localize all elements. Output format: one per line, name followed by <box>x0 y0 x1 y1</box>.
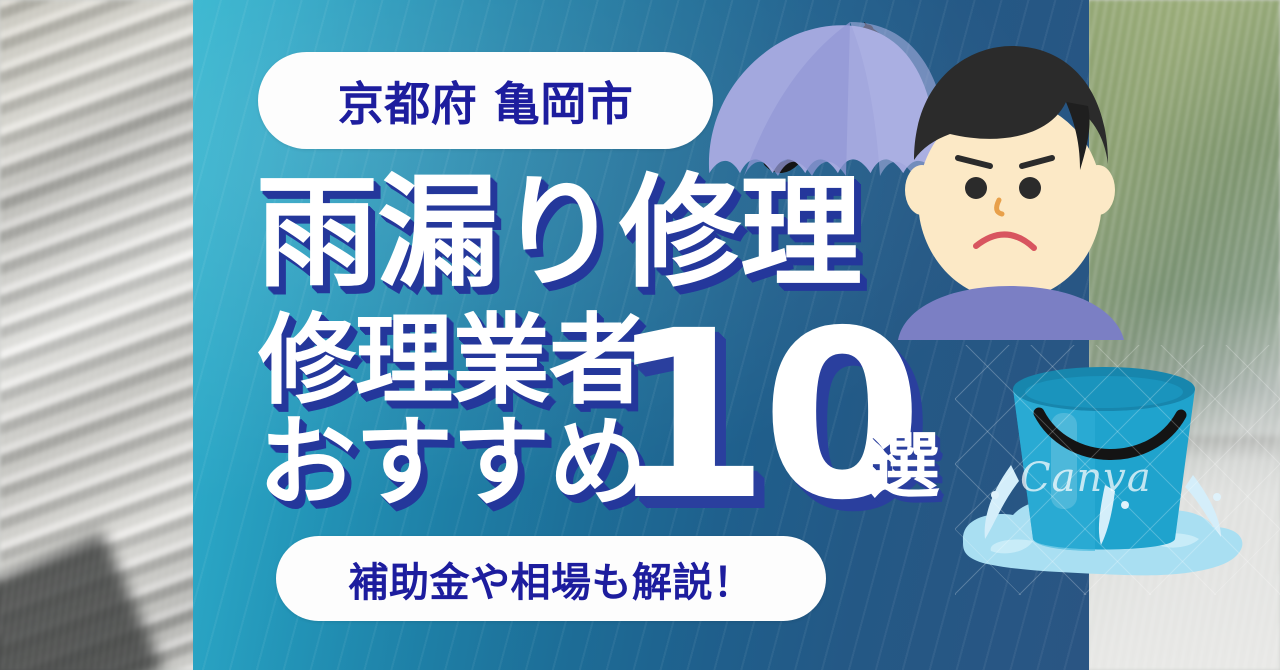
right-eye <box>1019 177 1041 199</box>
leaking-bucket-illustration <box>955 345 1255 595</box>
right-ear <box>1081 165 1115 215</box>
subtitle-pill: 補助金や相場も解説！ <box>276 536 826 621</box>
headline-line-2: 修理業者 <box>258 312 646 410</box>
city-label-text: 京都府 亀岡市 <box>338 68 634 134</box>
left-rain-overlay <box>0 0 200 670</box>
thumbnail-banner: Canva 京都府 亀岡市 雨漏り修理 修理業者 おすすめ 10 選 補助金や相… <box>0 0 1280 670</box>
left-eye <box>965 177 987 199</box>
left-ear <box>905 165 939 215</box>
shirt-shape <box>898 286 1124 340</box>
left-roof-photo <box>0 0 200 670</box>
count-unit: 選 <box>868 430 940 502</box>
worried-person-illustration <box>880 40 1140 340</box>
subtitle-text: 補助金や相場も解説！ <box>349 550 754 608</box>
headline-line-3: おすすめ <box>258 414 646 512</box>
city-label-pill: 京都府 亀岡市 <box>258 52 713 149</box>
headline-main: 雨漏り修理 <box>256 172 861 294</box>
